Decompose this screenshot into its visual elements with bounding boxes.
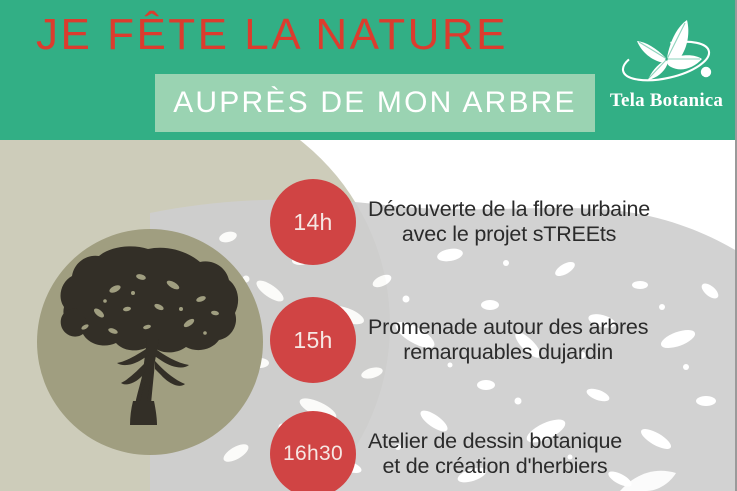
time-badge: 15h: [270, 297, 356, 383]
schedule-item[interactable]: 16h30 Atelier de dessin botanique et de …: [270, 404, 737, 491]
time-badge: 14h: [270, 179, 356, 265]
brand-logo[interactable]: Tela Botanica: [604, 14, 729, 126]
page-title: JE FÊTE LA NATURE: [36, 12, 508, 58]
schedule-item-line2: avec le projet sTREEts: [368, 222, 650, 247]
poster-header: JE FÊTE LA NATURE AUPRÈS DE MON ARBRE: [0, 0, 737, 140]
poster-body: 14h Découverte de la flore urbaine avec …: [0, 140, 737, 491]
schedule-item-line2: remarquables dujardin: [368, 340, 648, 365]
page-subtitle: AUPRÈS DE MON ARBRE: [155, 74, 595, 132]
logo-wordmark: Tela Botanica: [604, 90, 729, 112]
schedule-item-description: Découverte de la flore urbaine avec le p…: [368, 197, 650, 248]
time-badge: 16h30: [270, 411, 356, 491]
schedule-item[interactable]: 14h Découverte de la flore urbaine avec …: [270, 172, 737, 272]
schedule-item-line1: Atelier de dessin botanique: [368, 429, 622, 454]
schedule-item-description: Atelier de dessin botanique et de créati…: [368, 429, 622, 480]
schedule-item-line2: et de création d'herbiers: [368, 454, 622, 479]
poster-root: JE FÊTE LA NATURE AUPRÈS DE MON ARBRE: [0, 0, 737, 491]
schedule-list: 14h Découverte de la flore urbaine avec …: [0, 140, 737, 491]
schedule-item-line1: Découverte de la flore urbaine: [368, 197, 650, 222]
schedule-item[interactable]: 15h Promenade autour des arbres remarqua…: [270, 290, 737, 390]
leaf-butterfly-icon: [604, 14, 729, 92]
schedule-item-description: Promenade autour des arbres remarquables…: [368, 315, 648, 366]
schedule-item-line1: Promenade autour des arbres: [368, 315, 648, 340]
subtitle-band: AUPRÈS DE MON ARBRE: [155, 74, 595, 132]
